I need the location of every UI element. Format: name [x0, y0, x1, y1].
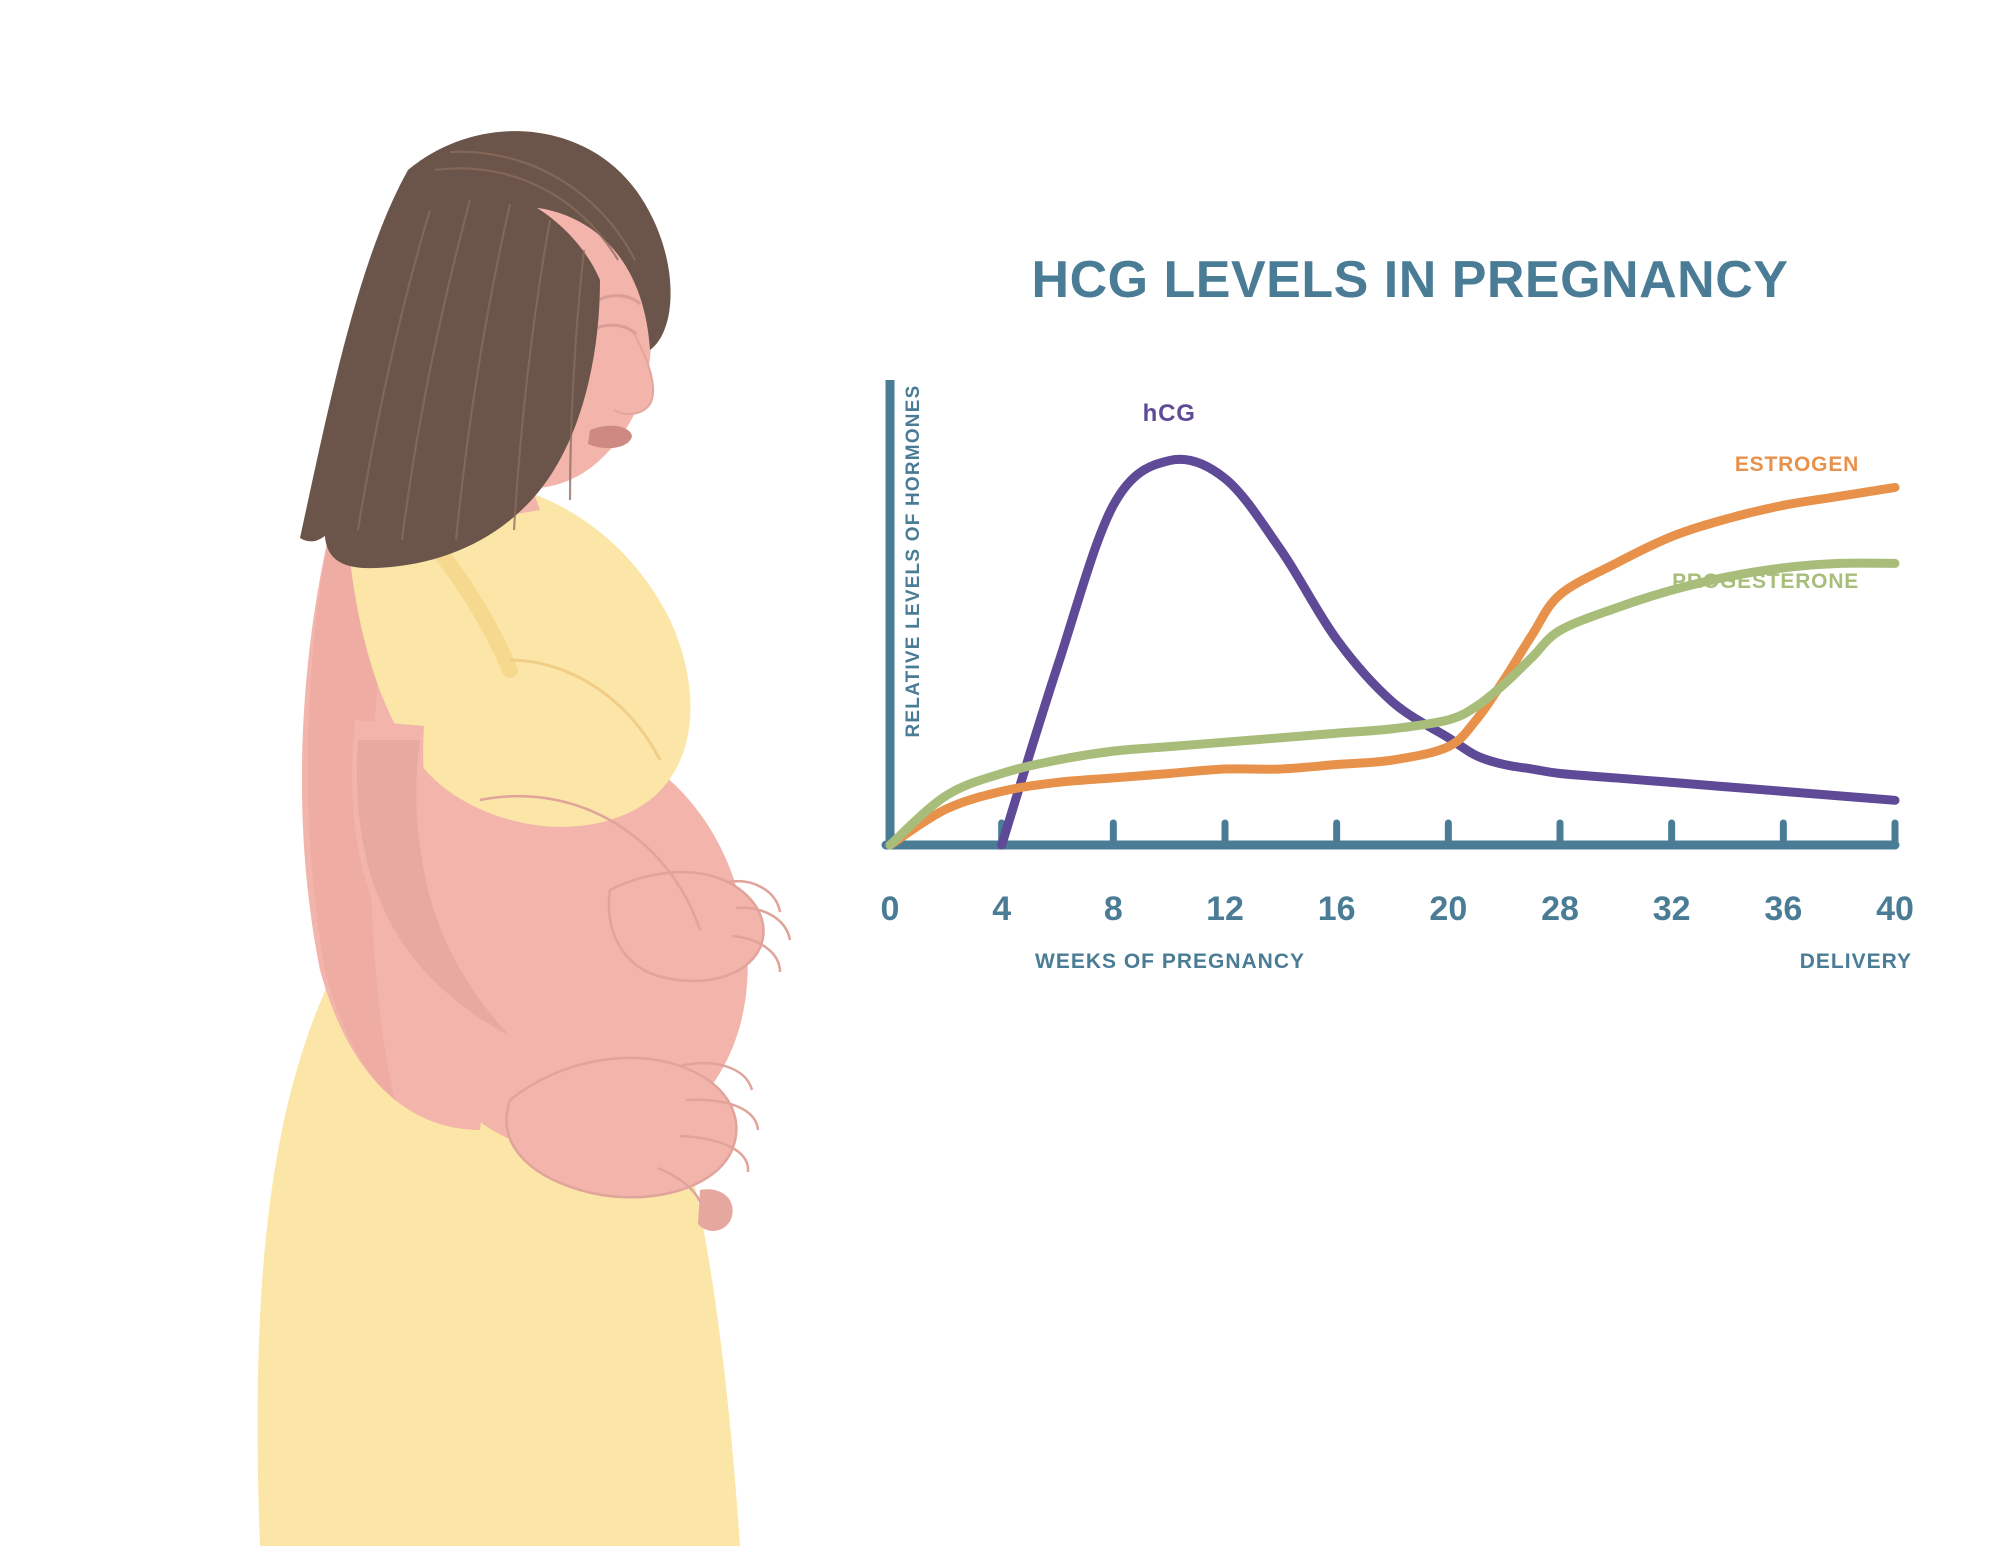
chart-title: HCG LEVELS IN PREGNANCY	[860, 250, 1960, 310]
x-tick-label: 16	[1318, 890, 1356, 929]
series-line-hcg	[1002, 459, 1895, 845]
x-tick-label: 12	[1206, 890, 1244, 929]
x-axis-label: WEEKS OF PREGNANCY	[1035, 950, 1305, 974]
series-label-hcg: hCG	[1143, 400, 1196, 428]
hcg-chart: HCG LEVELS IN PREGNANCY RELATIVE LEVELS …	[860, 250, 1960, 970]
hormone-curves	[890, 459, 1895, 845]
plot-area: hCGESTROGENPROGESTERONE	[860, 380, 1920, 880]
infographic-canvas: HCG LEVELS IN PREGNANCY RELATIVE LEVELS …	[0, 0, 2000, 1546]
x-axis-tick-labels: 04812162028323640	[860, 890, 1920, 930]
x-tick-label: 0	[881, 890, 900, 929]
x-tick-label: 4	[992, 890, 1011, 929]
series-label-estrogen: ESTROGEN	[1735, 453, 1859, 477]
x-tick-label: 20	[1429, 890, 1467, 929]
x-tick-label: 28	[1541, 890, 1579, 929]
x-tick-label: 36	[1764, 890, 1802, 929]
x-tick-label: 8	[1104, 890, 1123, 929]
x-tick-label: 32	[1653, 890, 1691, 929]
woman-figure	[258, 131, 790, 1546]
series-label-progesterone: PROGESTERONE	[1672, 570, 1859, 594]
axis-lines	[886, 380, 1895, 845]
pregnant-woman-illustration	[180, 100, 900, 1546]
delivery-label: DELIVERY	[1800, 950, 1912, 974]
x-tick-label: 40	[1876, 890, 1914, 929]
x-axis-ticks	[890, 823, 1895, 841]
lips-shape	[588, 426, 632, 448]
navel	[698, 1189, 733, 1231]
